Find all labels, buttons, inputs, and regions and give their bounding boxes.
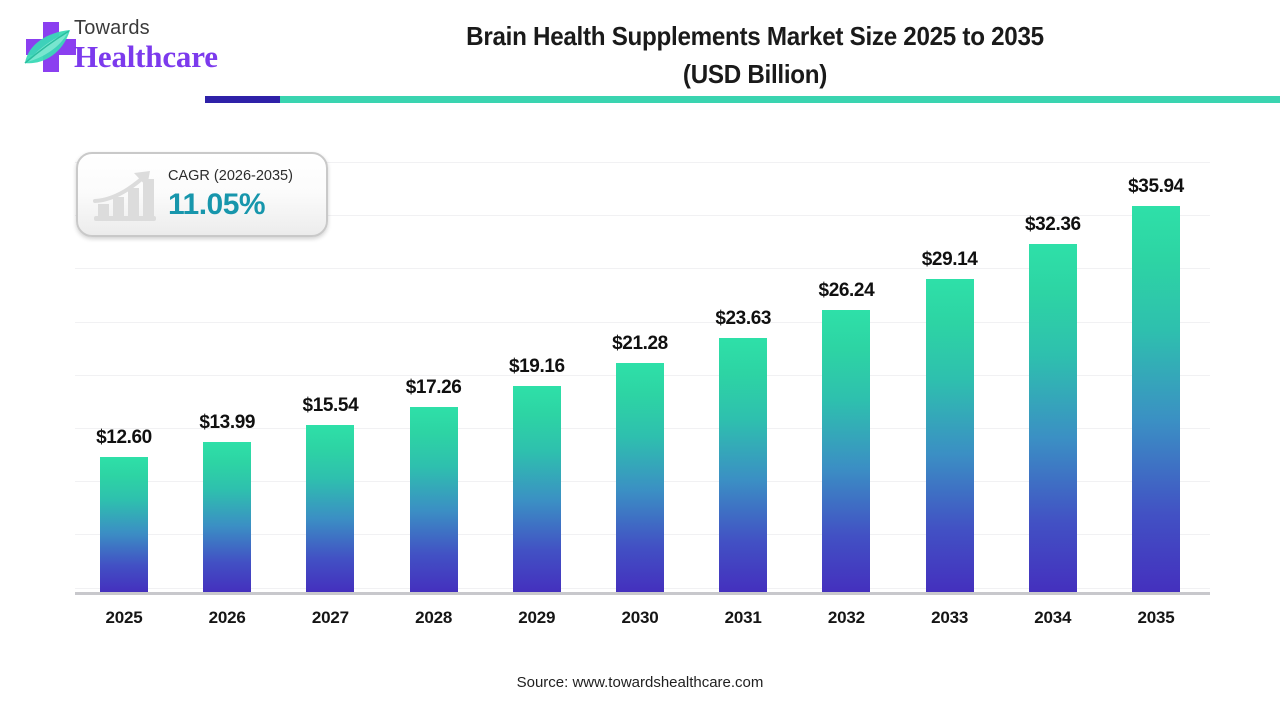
cagr-label: CAGR (2026-2035): [168, 166, 323, 186]
bar-value-label: $26.24: [786, 280, 906, 302]
cagr-badge: CAGR (2026-2035) 11.05%: [76, 152, 328, 237]
bar[interactable]: [306, 425, 354, 592]
bar-group: $23.63: [719, 338, 767, 592]
bar-chart-plot: $12.60$13.99$15.54$17.26$19.16$21.28$23.…: [0, 0, 1280, 720]
bar-group: $21.28: [616, 363, 664, 592]
bar-group: $32.36: [1029, 244, 1077, 592]
x-axis-tick-label: 2033: [890, 608, 1010, 628]
cagr-value: 11.05%: [168, 186, 323, 224]
x-axis-tick-label: 2026: [167, 608, 287, 628]
x-axis-line: [75, 592, 1210, 595]
bar[interactable]: [822, 310, 870, 592]
bar[interactable]: [719, 338, 767, 592]
bar-group: $26.24: [822, 310, 870, 592]
bar-value-label: $19.16: [477, 356, 597, 378]
bar-group: $29.14: [926, 279, 974, 592]
bar-group: $13.99: [203, 442, 251, 592]
bar-group: $35.94: [1132, 206, 1180, 592]
bar[interactable]: [410, 407, 458, 592]
x-axis-tick-label: 2028: [374, 608, 494, 628]
bar[interactable]: [1029, 244, 1077, 592]
bar[interactable]: [513, 386, 561, 592]
bar-value-label: $15.54: [270, 395, 390, 417]
cagr-text-block: CAGR (2026-2035) 11.05%: [168, 166, 323, 224]
bar-value-label: $32.36: [993, 214, 1113, 236]
bar[interactable]: [100, 457, 148, 592]
growth-bar-chart-arrow-icon: [90, 168, 162, 226]
bar[interactable]: [926, 279, 974, 592]
x-axis-tick-label: 2029: [477, 608, 597, 628]
bar-value-label: $13.99: [167, 412, 287, 434]
bar-value-label: $17.26: [374, 377, 494, 399]
bar-group: $17.26: [410, 407, 458, 592]
bar[interactable]: [203, 442, 251, 592]
bar-value-label: $12.60: [64, 427, 184, 449]
x-axis-tick-label: 2031: [683, 608, 803, 628]
bar-value-label: $35.94: [1096, 176, 1216, 198]
bar[interactable]: [1132, 206, 1180, 592]
bar-value-label: $21.28: [580, 333, 700, 355]
source-note: Source: www.towardshealthcare.com: [0, 674, 1280, 691]
x-axis-tick-label: 2032: [786, 608, 906, 628]
bar-value-label: $29.14: [890, 249, 1010, 271]
bar[interactable]: [616, 363, 664, 592]
x-axis-tick-label: 2034: [993, 608, 1113, 628]
bar-value-label: $23.63: [683, 308, 803, 330]
x-axis-tick-label: 2030: [580, 608, 700, 628]
x-axis-tick-label: 2035: [1096, 608, 1216, 628]
bar-group: $19.16: [513, 386, 561, 592]
bar-group: $15.54: [306, 425, 354, 592]
bar-group: $12.60: [100, 457, 148, 592]
x-axis-tick-label: 2027: [270, 608, 390, 628]
x-axis-tick-label: 2025: [64, 608, 184, 628]
